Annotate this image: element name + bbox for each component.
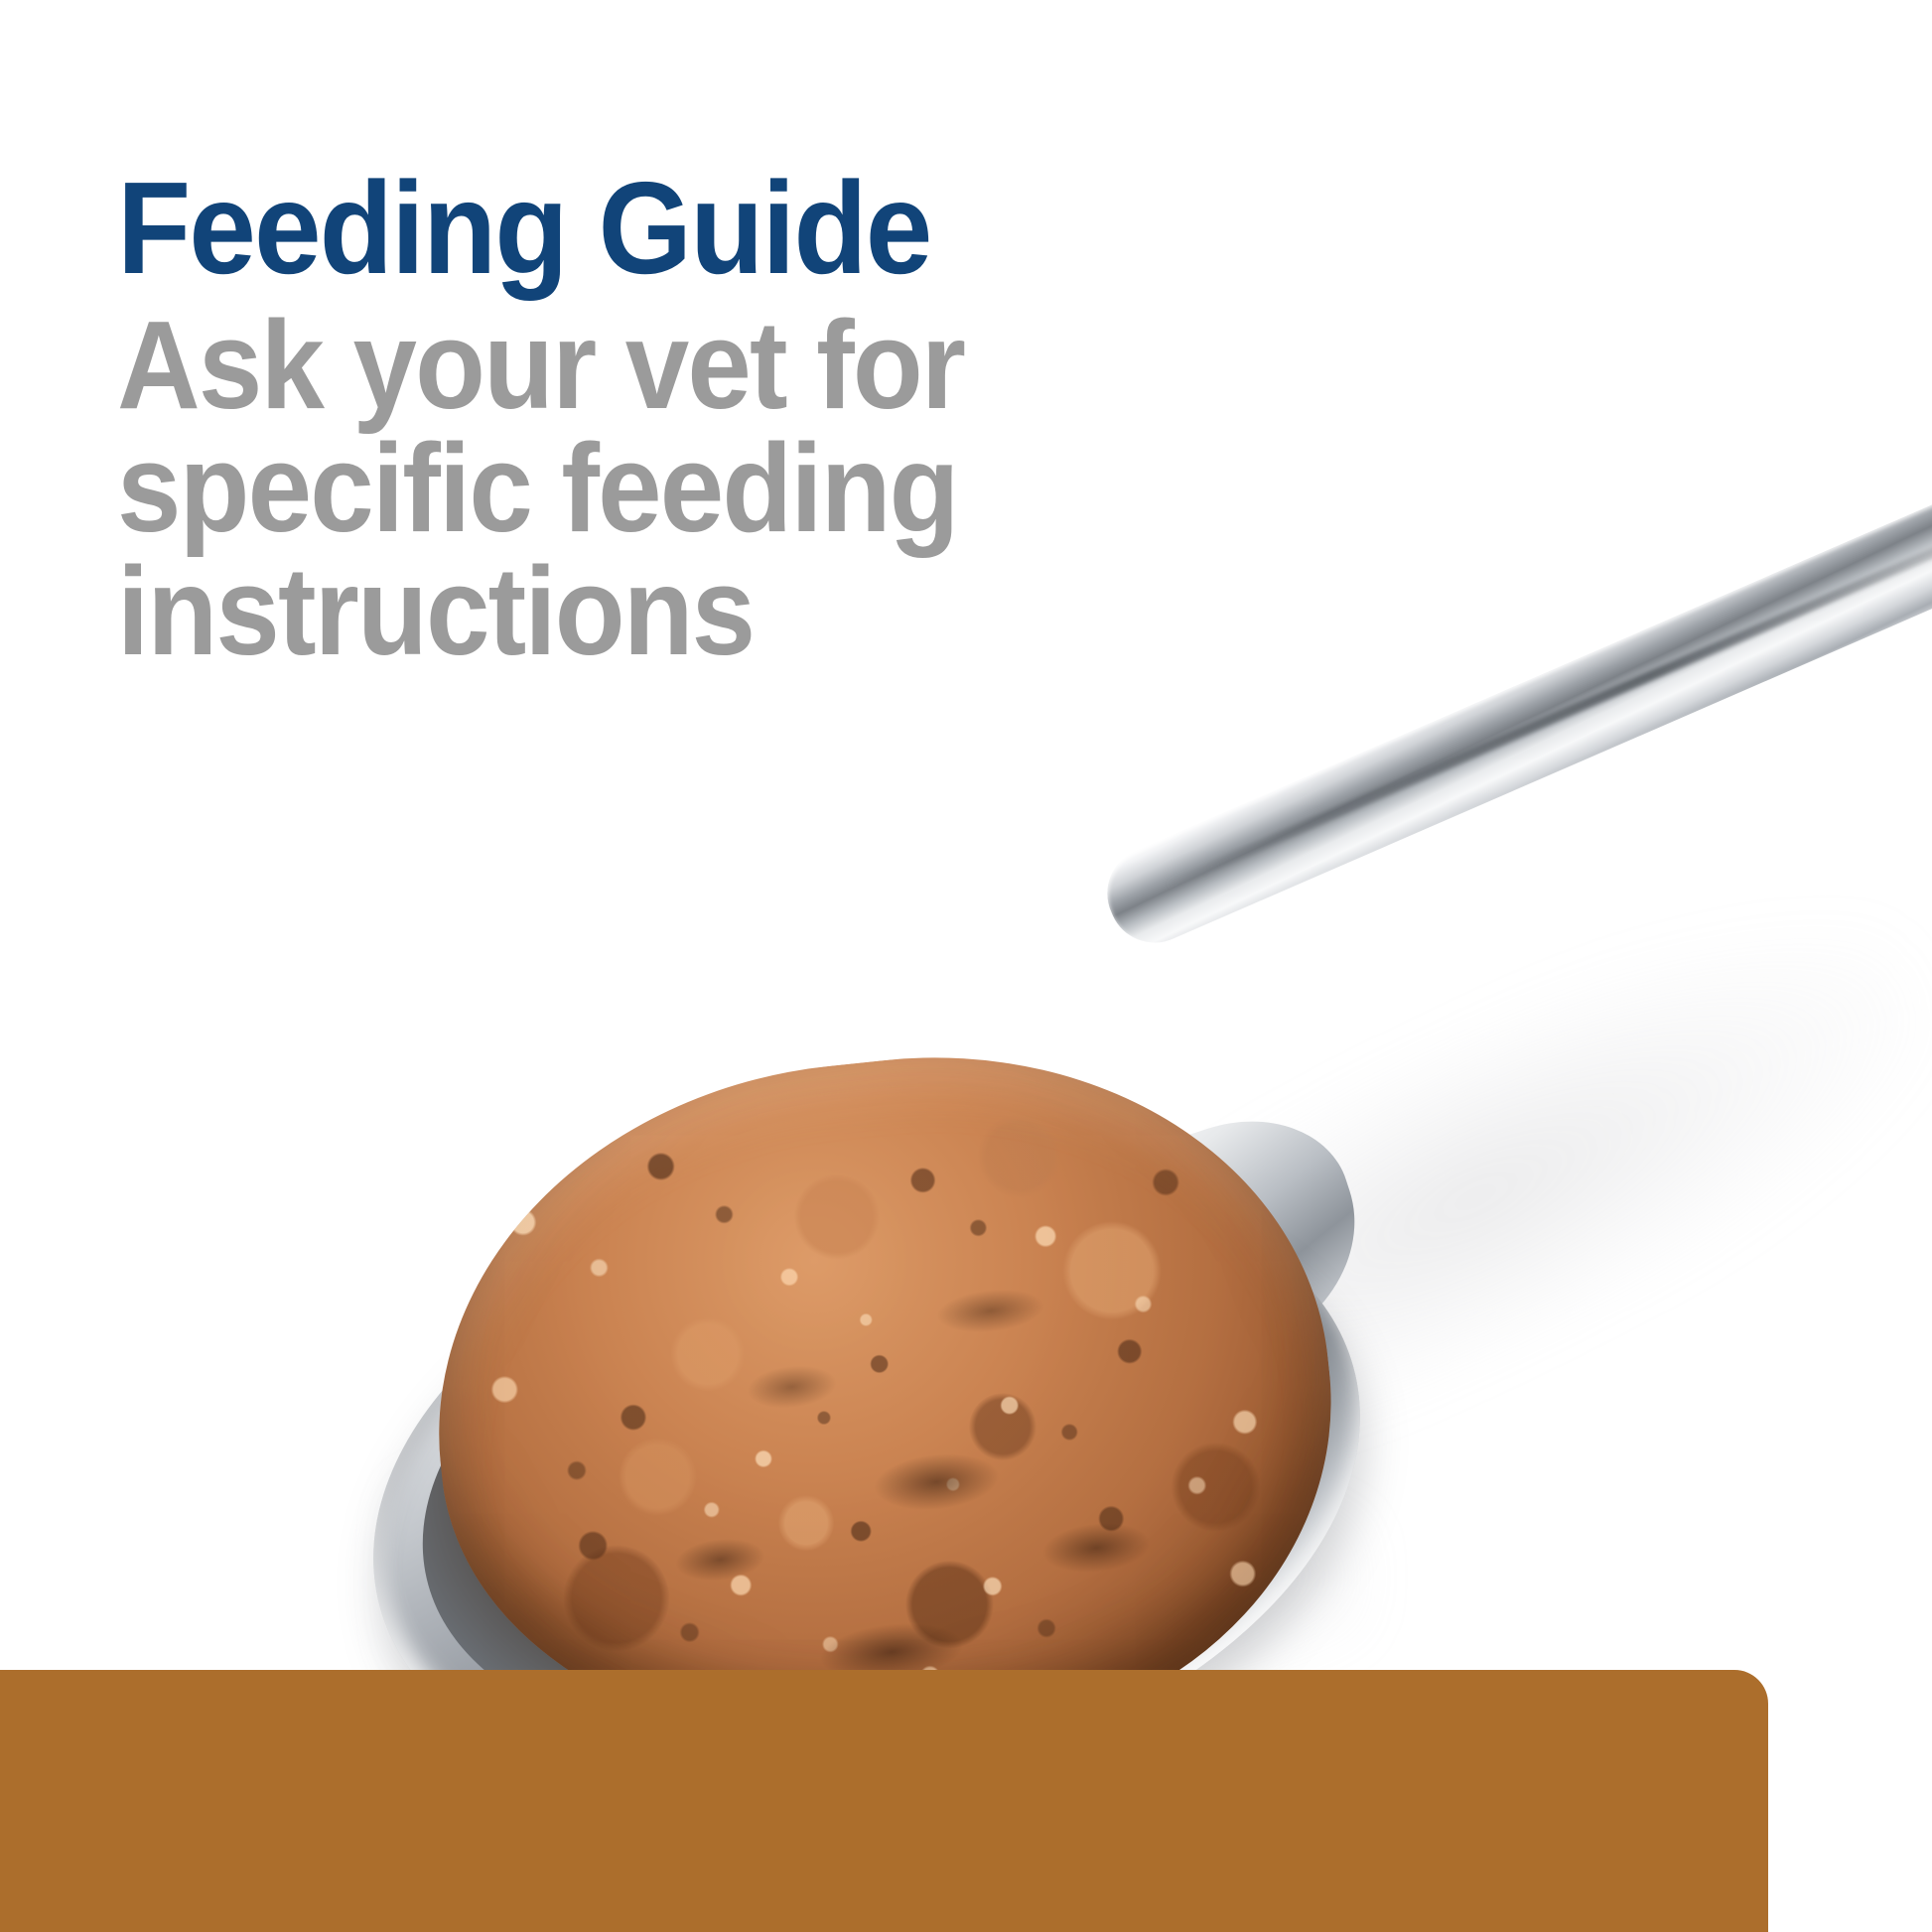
page-title: Feeding Guide: [117, 167, 964, 290]
subheading-line-2: specific feeding: [117, 427, 964, 550]
subheading-line-1: Ask your vet for: [117, 304, 964, 427]
feeding-guide-text-block: Feeding Guide Ask your vet for specific …: [117, 167, 1037, 673]
page-canvas: Feeding Guide Ask your vet for specific …: [0, 0, 1932, 1932]
subheading-line-3: instructions: [117, 550, 964, 673]
feeding-instructions-subheading: Ask your vet for specific feeding instru…: [117, 304, 964, 673]
footer-accent-bar: [0, 1670, 1768, 1932]
